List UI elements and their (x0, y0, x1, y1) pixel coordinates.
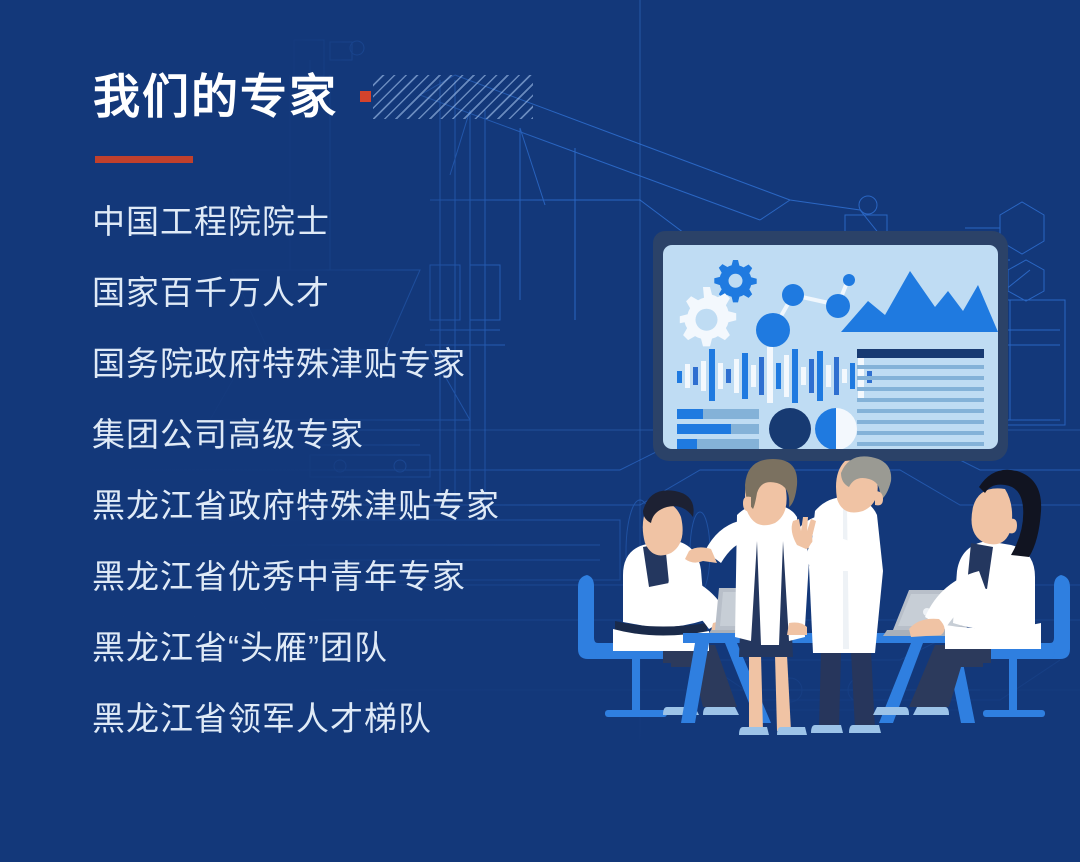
half-pie-chart (815, 408, 857, 449)
list-item: 中国工程院院士 (92, 205, 612, 238)
analytics-dashboard-panel (663, 245, 998, 449)
red-square-dot-icon (360, 91, 371, 102)
progress-bars (677, 409, 759, 449)
poster-canvas: 我们的专家 中国工程院院士 国家百千万人才 国务院政府特殊津贴专家 集团公司高级… (0, 0, 1080, 862)
text-lines-block (857, 349, 984, 446)
headline-decoration (360, 75, 533, 119)
list-item: 集团公司高级专家 (92, 418, 612, 451)
list-item: 黑龙江省“头雁”团队 (92, 631, 612, 664)
list-item: 黑龙江省领军人才梯队 (92, 702, 612, 735)
team-meeting-illustration (575, 455, 1080, 755)
list-item: 黑龙江省优秀中青年专家 (92, 560, 612, 593)
network-nodes-graph (756, 274, 855, 347)
title-underline-rule (95, 156, 193, 163)
list-item: 黑龙江省政府特殊津贴专家 (92, 489, 612, 522)
large-white-gear-icon (680, 287, 736, 346)
mountain-area-chart (841, 271, 998, 332)
dark-circle (769, 408, 811, 449)
page-title: 我们的专家 (93, 73, 338, 120)
headline-row: 我们的专家 (93, 73, 533, 120)
list-item: 国家百千万人才 (92, 276, 612, 309)
waveform-bars (677, 347, 872, 403)
diagonal-hatch-band-icon (373, 75, 533, 119)
list-item: 国务院政府特殊津贴专家 (92, 347, 612, 380)
expert-list: 中国工程院院士 国家百千万人才 国务院政府特殊津贴专家 集团公司高级专家 黑龙江… (92, 205, 612, 773)
